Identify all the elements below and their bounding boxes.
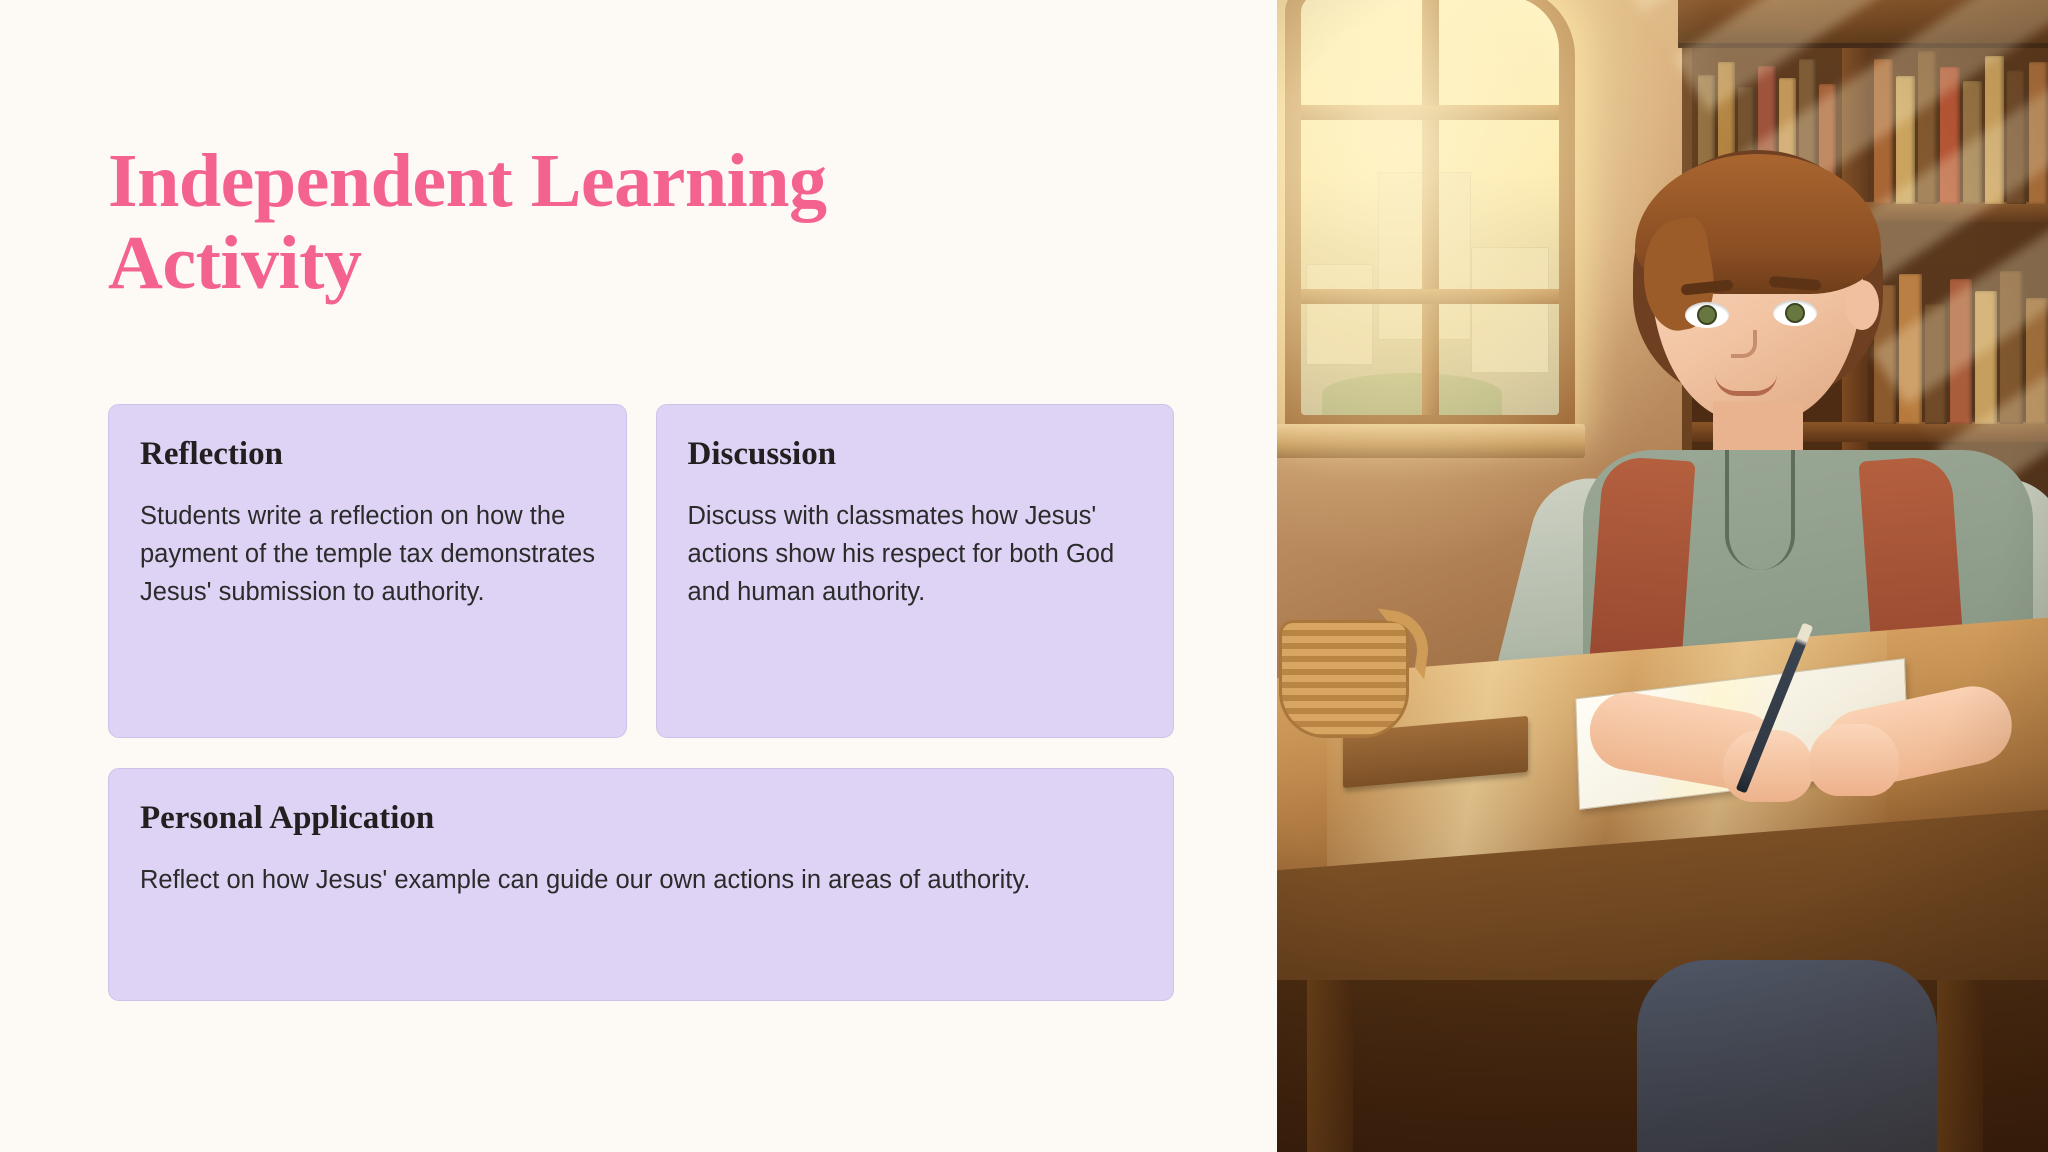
window-mullion-vertical: [1422, 0, 1439, 415]
card-personal-application-heading: Personal Application: [140, 799, 1143, 839]
desk-leg: [1937, 980, 1983, 1152]
bookshelf-crown-molding: [1678, 0, 2048, 48]
distant-building: [1471, 247, 1548, 373]
illustration-boy-writing-at-desk: [1277, 0, 2048, 1152]
activity-cards: Reflection Students write a reflection o…: [108, 404, 1174, 1001]
slide-root: Independent Learning Activity Reflection…: [0, 0, 2048, 1152]
boy-tunic-collar: [1725, 450, 1795, 570]
card-reflection-heading: Reflection: [140, 435, 596, 475]
boy-iris: [1785, 303, 1805, 323]
card-reflection-body: Students write a reflection on how the p…: [140, 497, 596, 612]
boy-iris: [1697, 305, 1717, 325]
window-glass: [1301, 0, 1559, 415]
window-sill: [1277, 424, 1585, 458]
card-row-top: Reflection Students write a reflection o…: [108, 404, 1174, 738]
card-personal-application-body: Reflect on how Jesus' example can guide …: [140, 861, 1143, 899]
content-pane: Independent Learning Activity Reflection…: [0, 0, 1277, 1152]
window-mullion-horizontal: [1301, 105, 1559, 120]
arched-window: [1285, 0, 1575, 431]
boy-lower-body: [1637, 960, 1937, 1152]
paper-sunlight-patch: [1655, 674, 1783, 799]
card-personal-application: Personal Application Reflect on how Jesu…: [108, 768, 1174, 1001]
distant-building: [1306, 264, 1373, 365]
page-title: Independent Learning Activity: [108, 140, 988, 304]
card-discussion-heading: Discussion: [688, 435, 1144, 475]
card-discussion-body: Discuss with classmates how Jesus' actio…: [688, 497, 1144, 612]
card-reflection: Reflection Students write a reflection o…: [108, 404, 627, 738]
boy-ear: [1845, 280, 1879, 330]
desk-leg: [1307, 980, 1353, 1152]
distant-foliage: [1322, 373, 1503, 415]
window-mullion-horizontal: [1301, 289, 1559, 304]
card-discussion: Discussion Discuss with classmates how J…: [656, 404, 1175, 738]
